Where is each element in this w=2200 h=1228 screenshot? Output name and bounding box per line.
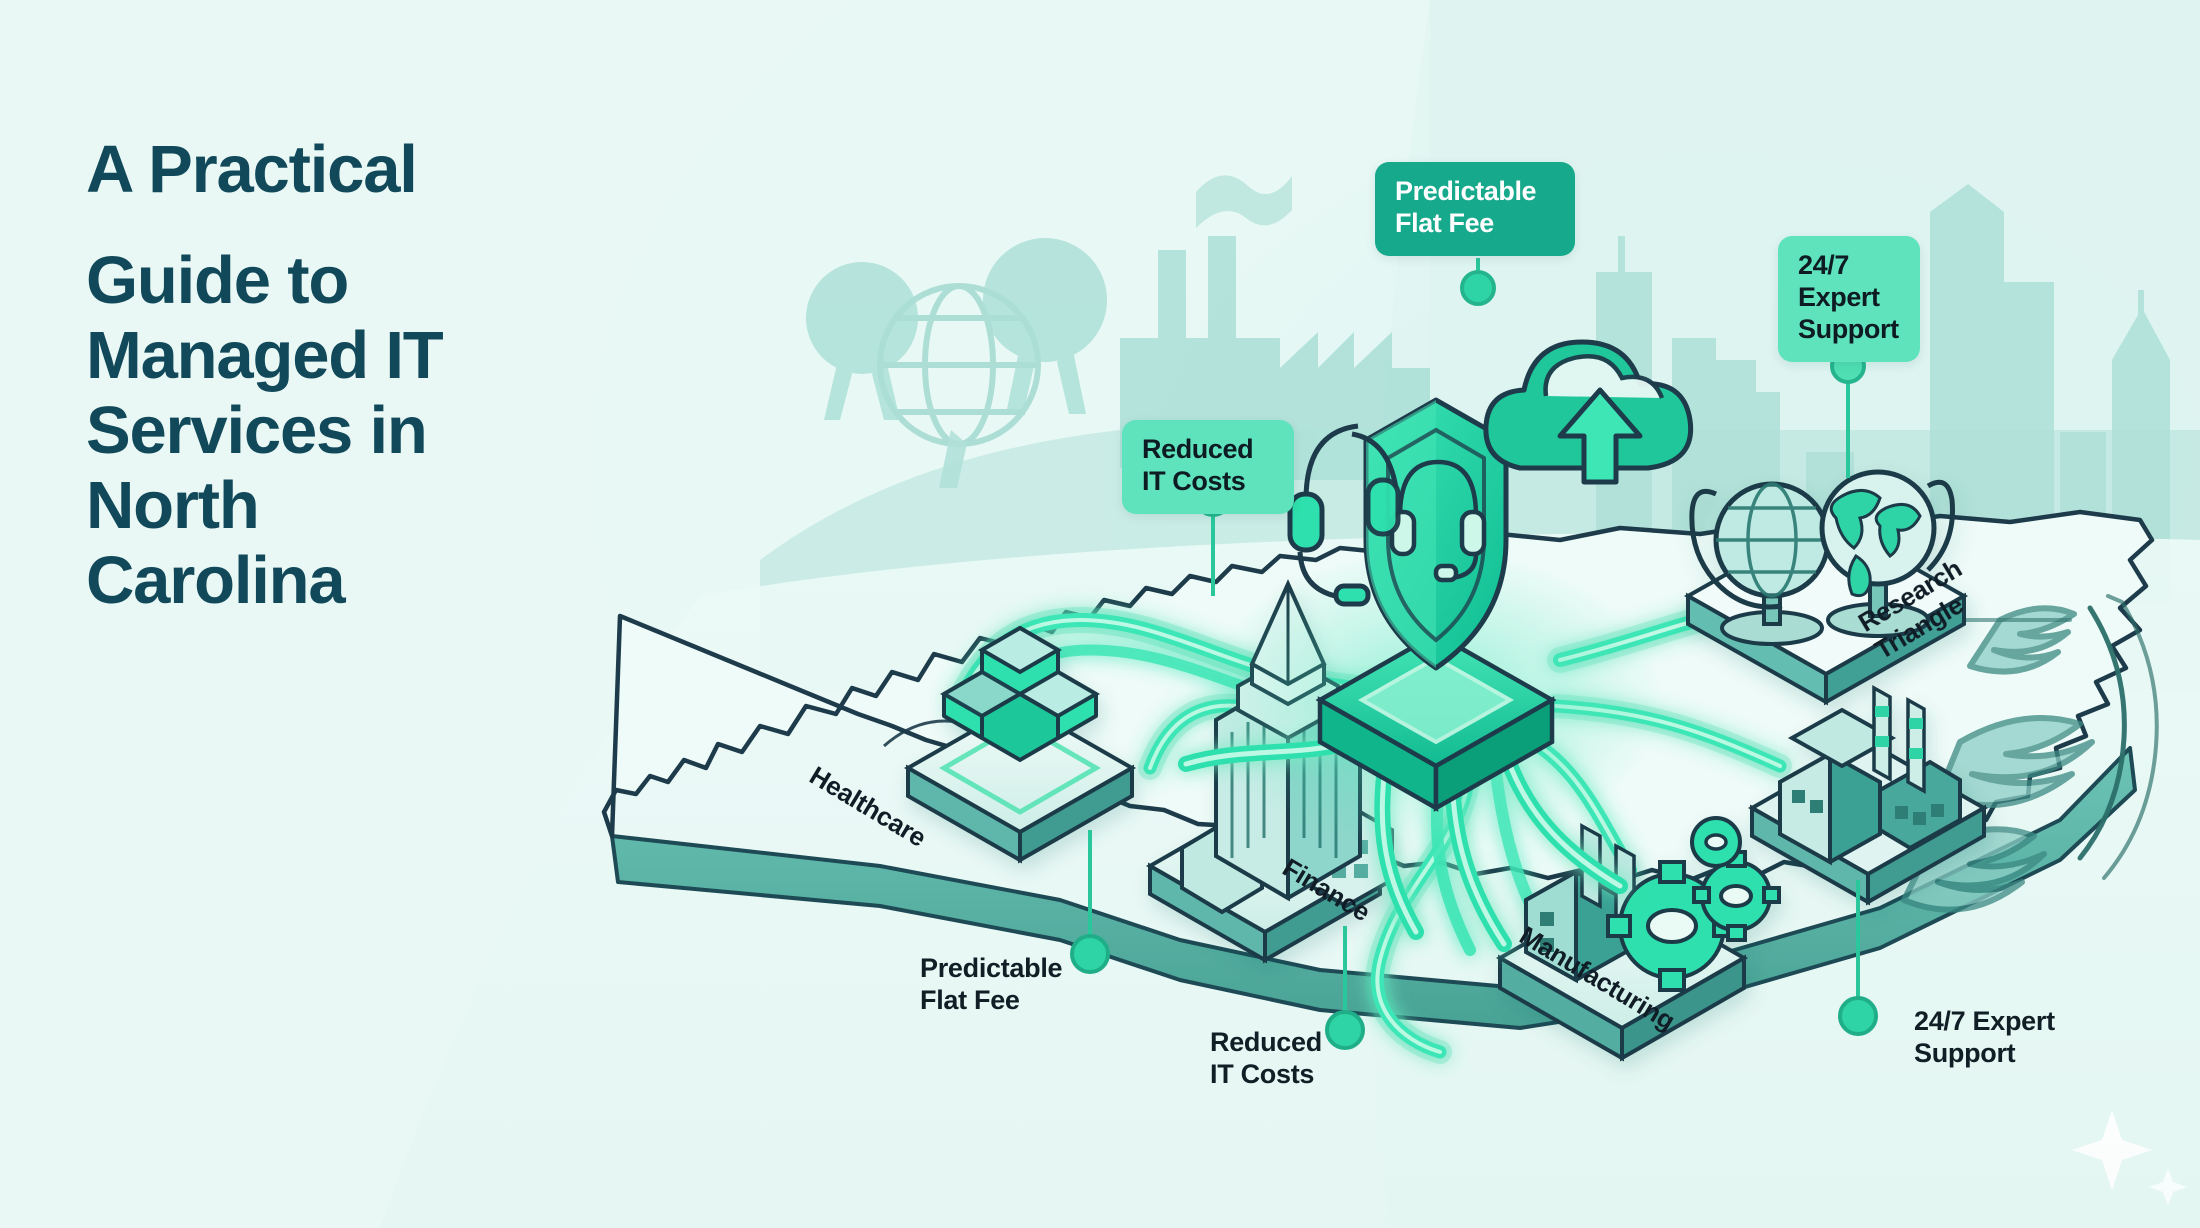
title-line-5: North [86,468,556,543]
callout-line-1: Reduced [1210,1026,1370,1058]
title-body: Guide to Managed IT Services in North Ca… [86,243,556,618]
callout-line-1: 24/7 Expert [1914,1005,2104,1037]
title-line-6: Carolina [86,543,556,618]
title-line-3: Managed IT [86,318,556,393]
cloud-upload-icon [1486,342,1691,482]
page-title: A Practical Guide to Managed IT Services… [86,136,556,618]
title-line-2: Guide to [86,243,556,318]
callout-reduced-it-costs: Reduced IT Costs [1210,1026,1370,1091]
callout-247-expert-support: 24/7 Expert Support [1914,1005,2104,1070]
title-line-4: Services in [86,393,556,468]
badge-predictable-flat-fee[interactable]: Predictable Flat Fee [1375,162,1575,256]
connector-dot [1840,998,1876,1034]
callout-line-2: Flat Fee [920,984,1100,1016]
gear-icon-tiny [1692,818,1740,866]
badge-247-expert-support[interactable]: 24/7 Expert Support [1778,236,1920,362]
callout-line-2: Support [1914,1037,2104,1069]
infographic-canvas: A Practical Guide to Managed IT Services… [0,0,2200,1228]
callout-line-2: IT Costs [1210,1058,1370,1090]
connector-dot [1462,272,1494,304]
badge-reduced-it-costs[interactable]: Reduced IT Costs [1122,420,1294,514]
title-line-1: A Practical [86,136,556,203]
callout-line-1: Predictable [920,952,1100,984]
callout-predictable-flat-fee: Predictable Flat Fee [920,952,1100,1017]
